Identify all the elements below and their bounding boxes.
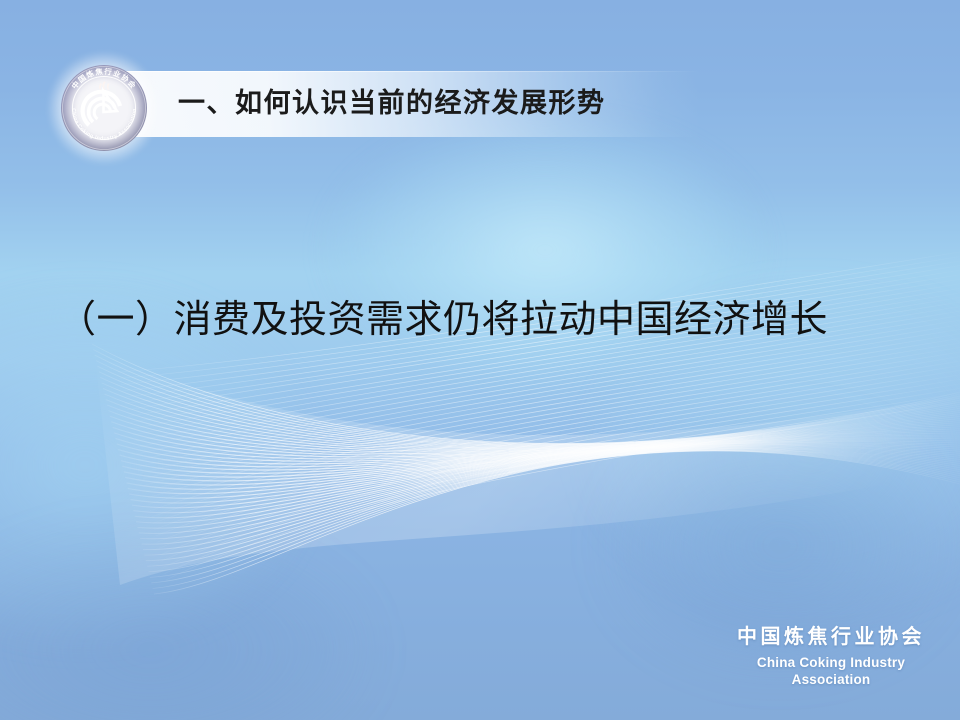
title-band-highlight (116, 71, 700, 72)
presentation-slide: 一、如何认识当前的经济发展形势 中国炼焦行业协会 (0, 0, 960, 720)
footer-name-en: China Coking Industry Association (716, 654, 946, 688)
logo-halo (48, 52, 160, 164)
association-logo: 中国炼焦行业协会 China Coking Industry Associati… (48, 52, 160, 164)
footer-name-cn: 中国炼焦行业协会 (716, 624, 946, 650)
slide-title: 一、如何认识当前的经济发展形势 (178, 78, 738, 128)
slide-headline: （一）消费及投资需求仍将拉动中国经济增长 (58, 288, 898, 343)
background-glow-left (0, 300, 300, 630)
background-glow-right (600, 300, 960, 600)
footer-brand: 中国炼焦行业协会 China Coking Industry Associati… (716, 624, 946, 688)
background-shadow-bottom-left (0, 540, 360, 720)
